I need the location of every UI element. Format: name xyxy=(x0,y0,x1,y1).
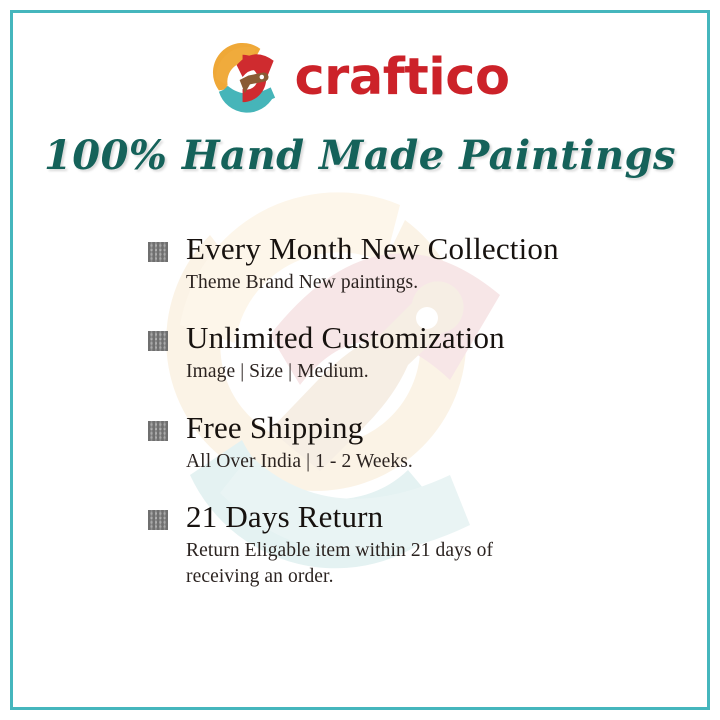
feature-subtitle: Theme Brand New paintings. xyxy=(186,270,647,296)
feature-list: Every Month New Collection Theme Brand N… xyxy=(147,232,647,590)
headline-text: 100% Hand Made Paintings xyxy=(0,132,720,179)
brand-wordmark: craftico xyxy=(294,52,509,103)
list-item: 21 Days Return Return Eligable item with… xyxy=(147,500,647,589)
list-item: Free Shipping All Over India | 1 - 2 Wee… xyxy=(147,411,647,474)
feature-subtitle: Image | Size | Medium. xyxy=(186,359,647,385)
feature-subtitle: All Over India | 1 - 2 Weeks. xyxy=(186,449,647,475)
craftico-c-brush-logo-icon xyxy=(210,40,284,114)
woven-grid-bullet-icon xyxy=(147,241,169,263)
woven-grid-bullet-icon xyxy=(147,420,169,442)
woven-grid-bullet-icon xyxy=(147,509,169,531)
list-item: Every Month New Collection Theme Brand N… xyxy=(147,232,647,295)
feature-title: Unlimited Customization xyxy=(186,321,647,356)
feature-subtitle: Return Eligable item within 21 days of r… xyxy=(186,538,556,589)
list-item: Unlimited Customization Image | Size | M… xyxy=(147,321,647,384)
feature-title: Free Shipping xyxy=(186,411,647,446)
feature-title: 21 Days Return xyxy=(186,500,647,535)
promo-banner: craftico 100% Hand Made Paintings xyxy=(0,0,720,720)
feature-title: Every Month New Collection xyxy=(186,232,647,267)
woven-grid-bullet-icon xyxy=(147,330,169,352)
brand-logo-lockup: craftico xyxy=(0,36,720,118)
